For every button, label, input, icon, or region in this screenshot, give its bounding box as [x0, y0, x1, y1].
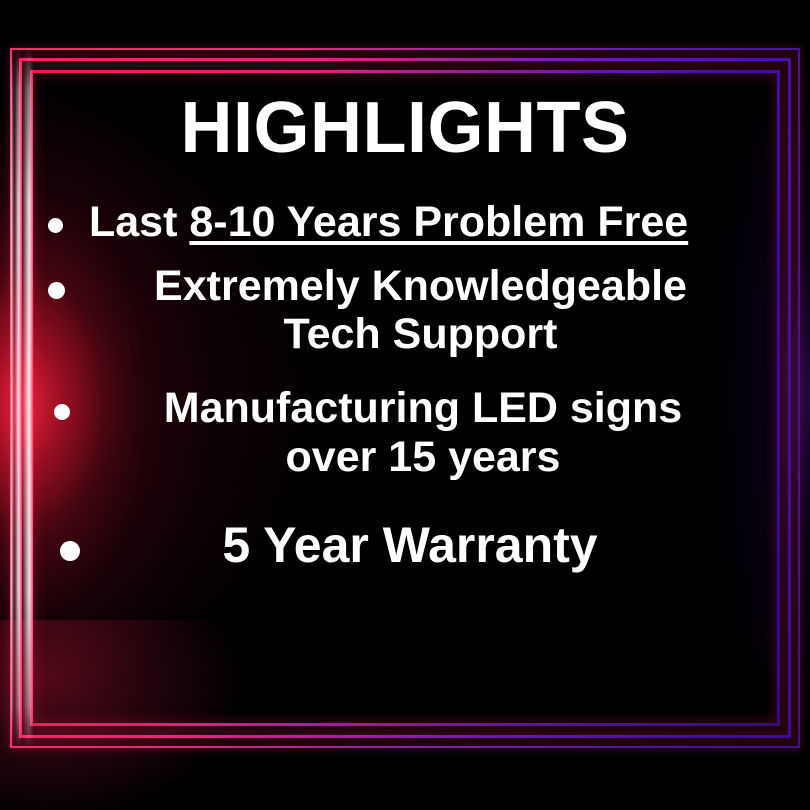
bullet-lead-text: Last — [89, 198, 189, 246]
bullet-dot-icon — [48, 282, 65, 299]
bullet-line-1: Extremely Knowledgeable — [154, 262, 687, 310]
neon-core-highlight-left — [8, 48, 36, 748]
bullet-line-1: Manufacturing LED signs — [164, 384, 682, 432]
bullet-emphasis-text: 8-10 Years Problem Free — [189, 198, 688, 246]
bullet-text: Extremely KnowledgeableTech Support — [73, 262, 776, 358]
list-item: 5 Year Warranty — [34, 517, 776, 573]
list-item: Manufacturing LED signsover 15 years — [34, 384, 776, 480]
bullet-dot-icon — [48, 218, 63, 233]
bullet-dot-icon — [54, 404, 70, 420]
poster-content: HIGHLIGHTS Last 8-10 Years Problem Free … — [34, 74, 776, 722]
bullet-line-2: over 15 years — [286, 433, 561, 481]
bullet-line-2: Tech Support — [284, 310, 558, 358]
bullet-text: Last 8-10 Years Problem Free — [71, 198, 776, 246]
bullet-text: 5 Year Warranty — [88, 517, 776, 573]
highlights-poster: HIGHLIGHTS Last 8-10 Years Problem Free … — [0, 0, 810, 810]
bullet-dot-icon — [60, 541, 80, 561]
highlights-list: Last 8-10 Years Problem Free Extremely K… — [34, 198, 776, 589]
page-title: HIGHLIGHTS — [181, 92, 630, 164]
list-item: Last 8-10 Years Problem Free — [34, 198, 776, 246]
bullet-text: Manufacturing LED signsover 15 years — [78, 384, 776, 480]
list-item: Extremely KnowledgeableTech Support — [34, 262, 776, 358]
